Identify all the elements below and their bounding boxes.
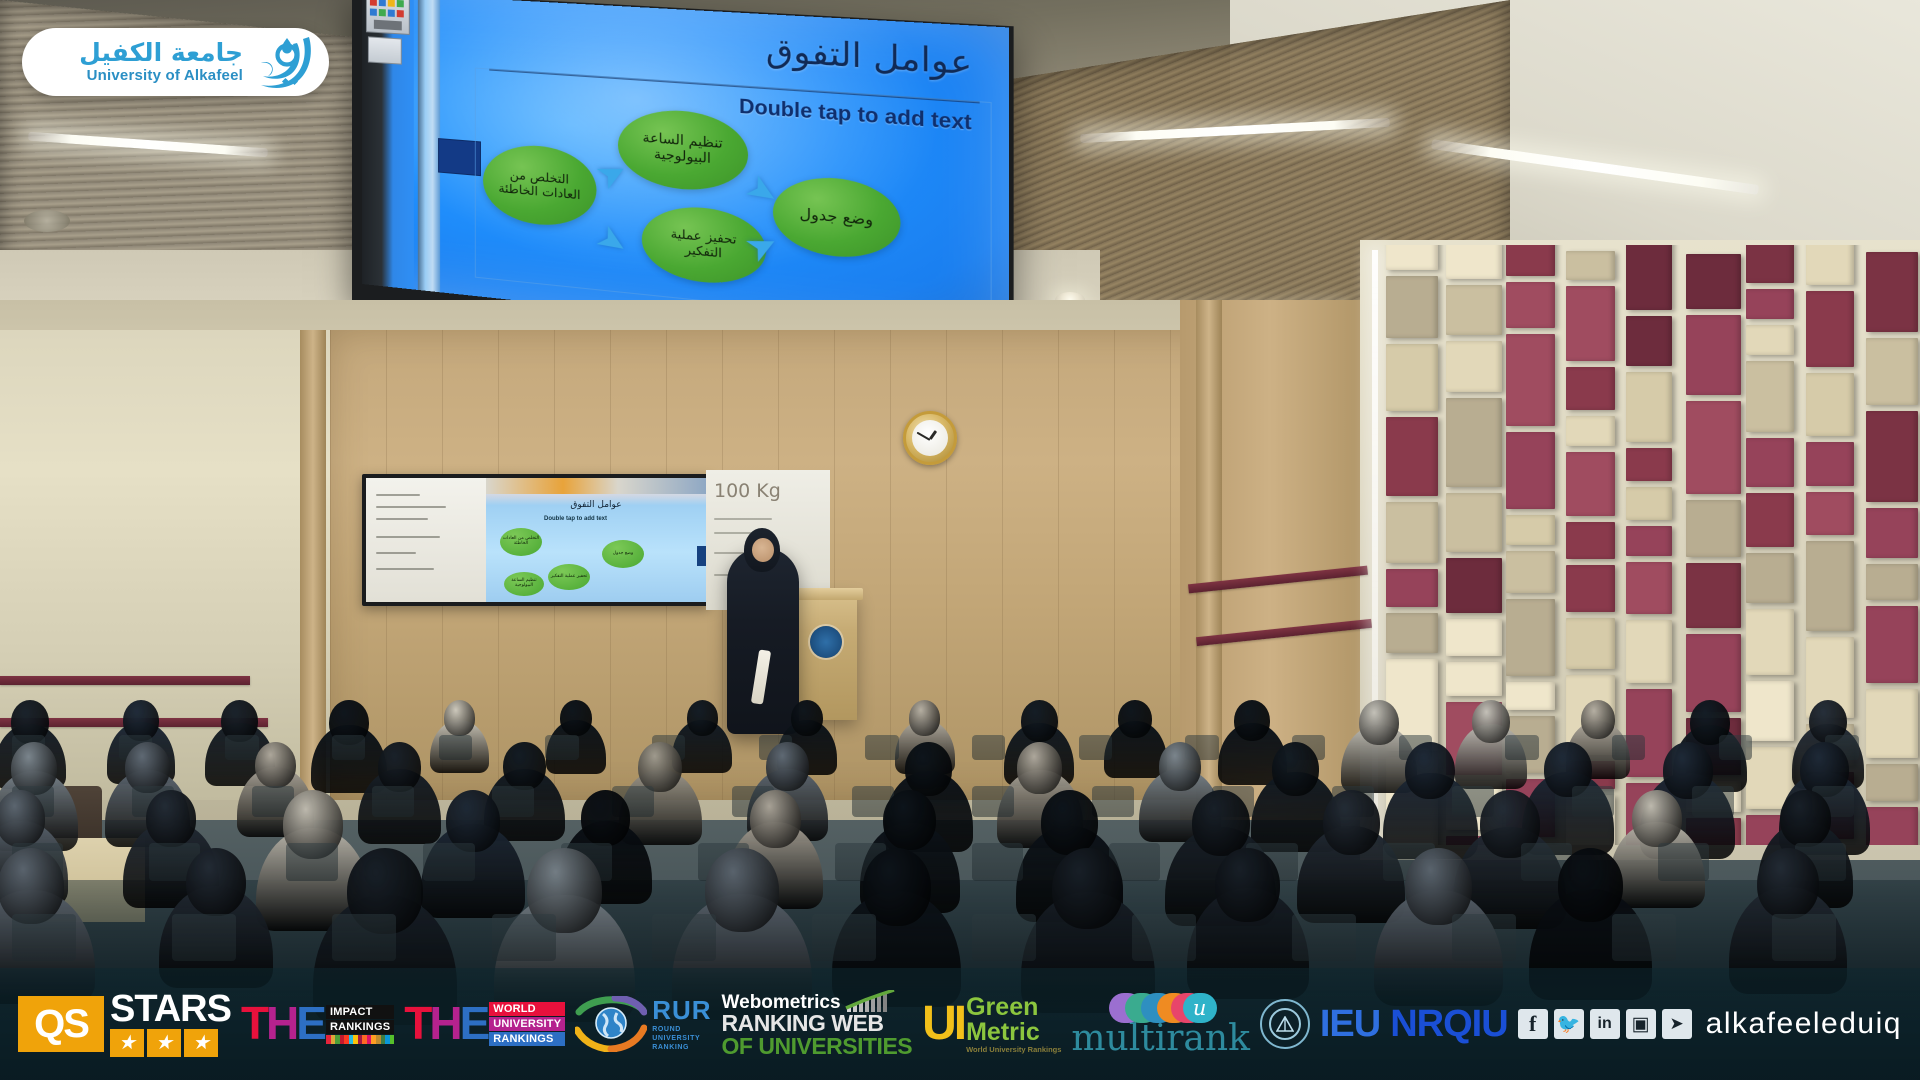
social-icons: f 🐦 in ▣ ➤ [1518, 1009, 1692, 1039]
slide-bubble-label: تحفيز عملية التفكير [651, 226, 758, 265]
acoustic-panel [1506, 551, 1555, 593]
wall-clock [903, 411, 957, 465]
audience-chair [812, 914, 876, 961]
qs-mark: QS [18, 996, 104, 1052]
acoustic-panel [1386, 344, 1438, 411]
audience-member-head [909, 700, 941, 736]
qs-star-rating: ★ ★ ★ [110, 1029, 218, 1057]
acoustic-panel [1866, 606, 1918, 683]
audience-member-head [1192, 790, 1250, 856]
logo-the-world-university-rankings[interactable]: THE WORLD UNIVERSITY RANKINGS [404, 1002, 565, 1046]
audience-chair [172, 914, 236, 961]
acoustic-panel [1566, 565, 1615, 611]
lecture-hall-photo: عوامل التفوق Double tap to add text تنظي… [0, 0, 1920, 1080]
audience-chair [1132, 914, 1196, 961]
twitter-icon[interactable]: 🐦 [1554, 1009, 1584, 1039]
audience-member-head [0, 848, 64, 924]
audience-member-head [1021, 700, 1058, 742]
audience-chair [1079, 735, 1112, 760]
audience-member-head [705, 848, 778, 932]
webometrics-line-2: RANKING WEB [722, 1012, 884, 1035]
screen-edge-glare [418, 0, 440, 292]
audience-chair [492, 914, 556, 961]
greenmetric-subtitle: World University Rankings [966, 1045, 1061, 1054]
audience-chair [1292, 914, 1356, 961]
audience-member-head [905, 742, 952, 796]
acoustic-panel [1746, 361, 1794, 432]
logo-u-multirank[interactable]: u multirank [1071, 993, 1250, 1055]
audience-chair [972, 914, 1036, 961]
university-name-arabic: جامعة الكفيل [79, 40, 243, 66]
multirank-dots: u [1109, 993, 1213, 1023]
whiteboard-note: 100 Kg [714, 480, 781, 502]
university-logo-badge: جامعة الكفيل University of Alkafeel [22, 28, 329, 96]
acoustic-panel [1866, 338, 1918, 405]
audience-chair [286, 843, 337, 881]
audience-member-head [1472, 700, 1510, 743]
audience-member-head [1780, 790, 1830, 847]
greenmetric-line-1: Green [966, 995, 1061, 1020]
telegram-icon[interactable]: ➤ [1662, 1009, 1692, 1039]
audience-chair [1092, 786, 1134, 817]
acoustic-panel [1806, 541, 1854, 632]
logo-ui-greenmetric[interactable]: UI Green Metric World University Ranking… [922, 995, 1061, 1054]
acoustic-panel [1866, 689, 1918, 757]
left-wall [0, 330, 340, 800]
audience-chair [225, 735, 258, 760]
audience-member-head [503, 742, 545, 790]
slide-bubble-label: وضع جدول [799, 205, 873, 229]
acoustic-panel [1626, 316, 1672, 366]
audience-member-head [687, 700, 718, 736]
acoustic-panel [1506, 682, 1555, 710]
the-wur-line-3: RANKINGS [489, 1032, 565, 1046]
seal-glyph-icon [1276, 1016, 1294, 1032]
smartboard-slide-subtitle: Double tap to add text [544, 516, 607, 522]
acoustic-panel [1806, 442, 1854, 485]
audience-chair [332, 735, 365, 760]
audience-member-head [0, 790, 45, 847]
acoustic-panel [1446, 558, 1502, 613]
acoustic-panel [1746, 245, 1794, 283]
audience-chair [1572, 786, 1614, 817]
acoustic-panel [1386, 613, 1438, 653]
acoustic-panel [1866, 807, 1918, 845]
screenshot-root: عوامل التفوق Double tap to add text تنظي… [0, 0, 1920, 1080]
presentation-toolbar[interactable] [366, 0, 410, 35]
audience-chair [865, 735, 898, 760]
slide-bubble-label: التخلص من العادات الخاطئة [491, 167, 588, 204]
acoustic-panel [1746, 289, 1794, 318]
acoustic-panel [1626, 526, 1672, 556]
acoustic-panel [1626, 487, 1672, 520]
acoustic-panel [1446, 285, 1502, 335]
acoustic-panel [1746, 553, 1794, 604]
acoustic-panel [1806, 245, 1854, 285]
acoustic-panel [1506, 282, 1555, 328]
university-name-english: University of Alkafeel [79, 67, 243, 84]
audience-member-head [378, 742, 421, 792]
audience-member-head [560, 700, 592, 736]
acoustic-panel [1386, 569, 1438, 607]
linkedin-icon[interactable]: in [1590, 1009, 1620, 1039]
audience-member-head [1632, 790, 1682, 847]
slide-bubble-label: تنظيم الساعة البيولوجية [627, 130, 739, 170]
audience-chair [1452, 914, 1516, 961]
acoustic-panel [1866, 252, 1918, 332]
presenter-face [752, 538, 774, 562]
audience-member-head [1272, 742, 1319, 796]
audience-chair [972, 843, 1023, 881]
instagram-icon[interactable]: ▣ [1626, 1009, 1656, 1039]
smartboard-toolbar [486, 478, 706, 494]
slide-title: عوامل التفوق [766, 31, 972, 83]
audience-member-head [883, 790, 936, 850]
acoustic-panel [1506, 515, 1555, 545]
audience-member-head [766, 742, 808, 791]
wall-trim-band [0, 676, 250, 685]
logo-the-impact-rankings[interactable]: THE IMPACT RANKINGS [241, 1005, 394, 1044]
acoustic-panel [1806, 373, 1854, 436]
facebook-icon[interactable]: f [1518, 1009, 1548, 1039]
nrqiu-wordmark: NRQIU [1390, 1003, 1507, 1046]
acoustic-panel [1446, 493, 1502, 552]
acoustic-panel [1626, 372, 1672, 442]
acoustic-panel [1746, 438, 1794, 486]
acoustic-panel [1566, 522, 1615, 560]
acoustic-panel [1686, 401, 1741, 494]
audience-chair [1772, 914, 1836, 961]
audience-chair [1612, 914, 1676, 961]
the-wur-line-2: UNIVERSITY [489, 1017, 565, 1031]
acoustic-panel [1866, 508, 1918, 558]
audience-chair [652, 914, 716, 961]
audience-member-head [791, 700, 823, 736]
multirank-wordmark: multirank [1071, 1023, 1250, 1055]
qs-label: QS [34, 1002, 88, 1047]
audience-member-head [1581, 700, 1615, 739]
acoustic-panel [1746, 325, 1794, 355]
audience-member-head [1052, 848, 1123, 929]
rur-sub-2: UNIVERSITY [652, 1035, 711, 1044]
acoustic-panel [1386, 245, 1438, 270]
audience-chair [12, 914, 76, 961]
audience-chair [545, 735, 578, 760]
acoustic-panel [1566, 367, 1615, 410]
acoustic-panel [1386, 502, 1438, 563]
smartboard-bubble-1: التخلص من العادات الخاطئة [500, 528, 542, 556]
presenter [727, 548, 799, 734]
the-wordmark: THE [241, 1005, 324, 1043]
audience-member-head [1159, 742, 1202, 791]
star-icon: ★ [184, 1029, 218, 1057]
ministry-seal-icon [1260, 999, 1310, 1049]
audience-member-head [750, 790, 801, 848]
alkafeel-emblem-icon [253, 33, 315, 91]
acoustic-panel [1386, 276, 1438, 337]
audience-member-head [1323, 790, 1380, 855]
smartboard-slide-title: عوامل التفوق [486, 500, 706, 510]
audience-member-head [638, 742, 682, 792]
acoustic-panel [1686, 254, 1741, 309]
slide-app-sidebar [362, 0, 414, 290]
star-icon: ★ [110, 1029, 144, 1057]
rur-wordmark: RUR [652, 995, 711, 1026]
audience-chair [332, 914, 396, 961]
acoustic-panel [1866, 411, 1918, 502]
logo-qs-stars[interactable]: QS STARS ★ ★ ★ [18, 991, 231, 1057]
acoustic-panel [1446, 662, 1502, 696]
rur-sub-3: RANKING [652, 1044, 711, 1053]
presentation-toolbar-secondary[interactable] [368, 36, 402, 64]
acoustic-panel [1566, 452, 1615, 515]
ieu-wordmark: IEU [1320, 1003, 1380, 1046]
ui-wordmark: UI [922, 1004, 964, 1045]
acoustic-panel [1806, 291, 1854, 367]
audience-chair [372, 786, 414, 817]
clock-face [912, 420, 948, 456]
acoustic-panel [1806, 492, 1854, 535]
audience-chair [972, 786, 1014, 817]
webometrics-line-3: OF UNIVERSITIES [722, 1035, 913, 1058]
acoustic-panel [1746, 609, 1794, 675]
interactive-smartboard[interactable]: عوامل التفوق Double tap to add text التخ… [486, 478, 706, 602]
star-icon: ★ [147, 1029, 181, 1057]
audience-member-head [186, 848, 246, 916]
audience-member-head [1558, 848, 1623, 922]
acoustic-panel [1626, 448, 1672, 481]
audience-chair [972, 735, 1005, 760]
audience-chair [1692, 786, 1734, 817]
the-impact-line-2: RANKINGS [326, 1020, 394, 1034]
acoustic-panel [1566, 416, 1615, 446]
acoustic-panel [1746, 681, 1794, 741]
acoustic-panel [1446, 341, 1502, 392]
acoustic-panel [1866, 764, 1918, 801]
acoustic-panel [1686, 315, 1741, 395]
audience-chair [423, 843, 474, 881]
acoustic-panel [1626, 562, 1672, 615]
logo-webometrics[interactable]: Webometrics RANKING WEB OF UNIVERSITIES [722, 990, 913, 1058]
podium-top [789, 588, 863, 600]
audience-chair [1505, 735, 1538, 760]
greenmetric-line-2: Metric [966, 1020, 1061, 1045]
audience-chair [1658, 843, 1709, 881]
acoustic-panel [1746, 493, 1794, 547]
smartboard-bubble-2: تحفيز عملية التفكير [548, 564, 590, 590]
audience-member-head [1234, 700, 1270, 741]
audience-member-head [444, 700, 475, 736]
audience-member-head [1405, 742, 1455, 799]
wall-column [300, 330, 326, 800]
acoustic-panel [1866, 564, 1918, 600]
podium-emblem [810, 626, 842, 658]
acoustic-panel [1446, 398, 1502, 487]
the-impact-line-1: IMPACT [326, 1005, 394, 1019]
acoustic-panel [1386, 417, 1438, 497]
audience-member-head [581, 790, 630, 846]
audience-member-head [1215, 848, 1279, 922]
growth-chart-icon [845, 990, 895, 1012]
the-wur-line-1: WORLD [489, 1002, 565, 1016]
acoustic-panel [1446, 619, 1502, 656]
acoustic-panel [1566, 618, 1615, 669]
acoustic-panel [1506, 432, 1555, 509]
logo-round-university-ranking[interactable]: RUR ROUND UNIVERSITY RANKING [575, 995, 711, 1052]
smartboard-bubble-3: وضع جدول [602, 540, 644, 568]
audience-member-head [1041, 790, 1097, 855]
acoustic-panel [1506, 334, 1555, 426]
social-handle: alkafeeleduiq [1706, 1007, 1902, 1041]
ceiling-speaker [24, 210, 70, 232]
smartboard-bubble-4: تنظيم الساعة البيولوجية [504, 572, 544, 596]
whiteboard-left [366, 478, 486, 602]
audience-member-head [1017, 742, 1062, 794]
audience-member-head [146, 790, 196, 847]
acoustic-panel [1626, 245, 1672, 310]
acoustic-panel [1566, 286, 1615, 360]
acoustic-panel [1686, 500, 1741, 557]
audience-member-head [1757, 848, 1819, 919]
the-wordmark: THE [404, 1005, 487, 1043]
audience-chair [1612, 735, 1645, 760]
acoustic-panel [1626, 620, 1672, 683]
acoustic-panel [1566, 251, 1615, 281]
acoustic-panel [1686, 563, 1741, 628]
audience-chair [1719, 735, 1752, 760]
qs-stars-label: STARS [110, 991, 231, 1027]
audience-member-head [1118, 700, 1151, 738]
sdg-color-strip [326, 1035, 394, 1044]
audience-member-head [255, 742, 296, 788]
rur-eye-icon [575, 996, 647, 1052]
logo-ieu-nrqiu[interactable]: IEU NRQIU [1260, 999, 1508, 1049]
acoustic-panel [1446, 245, 1502, 279]
rankings-footer-bar: QS STARS ★ ★ ★ THE IMPACT RANKINGS [0, 968, 1920, 1080]
audience-member-head [1359, 700, 1399, 745]
acoustic-panel [1506, 245, 1555, 276]
rur-sub-1: ROUND [652, 1026, 711, 1035]
audience-chair [439, 735, 472, 760]
acoustic-panel [1506, 599, 1555, 676]
